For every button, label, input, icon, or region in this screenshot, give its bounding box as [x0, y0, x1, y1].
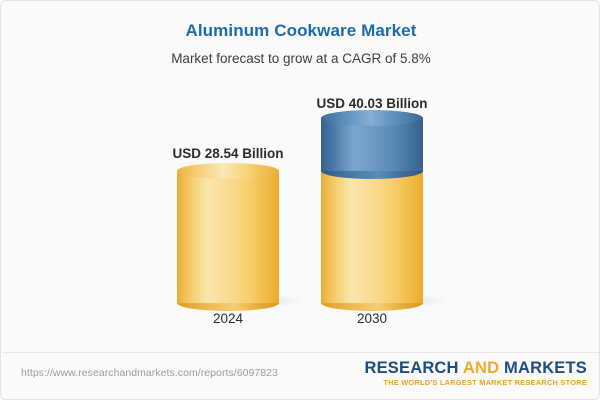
logo-tagline: THE WORLD'S LARGEST MARKET RESEARCH STOR…	[364, 378, 587, 387]
bar-value-label-2030: USD 40.03 Billion	[307, 96, 437, 111]
logo-word-markets: MARKETS	[504, 359, 587, 377]
category-label-2024: 2024	[163, 311, 293, 326]
cylinder-top-ellipse	[177, 163, 279, 179]
chart-footer: https://www.researchandmarkets.com/repor…	[1, 353, 600, 400]
bar-segment-base-2030[interactable]	[321, 171, 423, 303]
logo-word-and: AND	[463, 359, 499, 377]
bar-segment-growth-2030[interactable]	[321, 118, 423, 171]
bar-value-label-2024: USD 28.54 Billion	[163, 146, 293, 161]
chart-plot-area: USD 28.54 Billion 2024 USD 40.03 Billion	[1, 1, 600, 351]
category-label-2030: 2030	[307, 311, 437, 326]
cylinder-body	[177, 171, 279, 303]
cylinder-top-ellipse	[321, 110, 423, 126]
logo-word-research: RESEARCH	[364, 359, 458, 377]
bar-segment-base-2024[interactable]	[177, 171, 279, 303]
research-and-markets-logo[interactable]: RESEARCH AND MARKETS THE WORLD'S LARGEST…	[364, 359, 587, 387]
cylinder-2024	[177, 171, 279, 303]
logo-wordmark: RESEARCH AND MARKETS	[364, 359, 587, 377]
report-url-link[interactable]: https://www.researchandmarkets.com/repor…	[21, 367, 278, 379]
cylinder-2030	[321, 118, 423, 303]
chart-card: Aluminum Cookware Market Market forecast…	[0, 0, 600, 400]
cylinder-body	[321, 171, 423, 303]
